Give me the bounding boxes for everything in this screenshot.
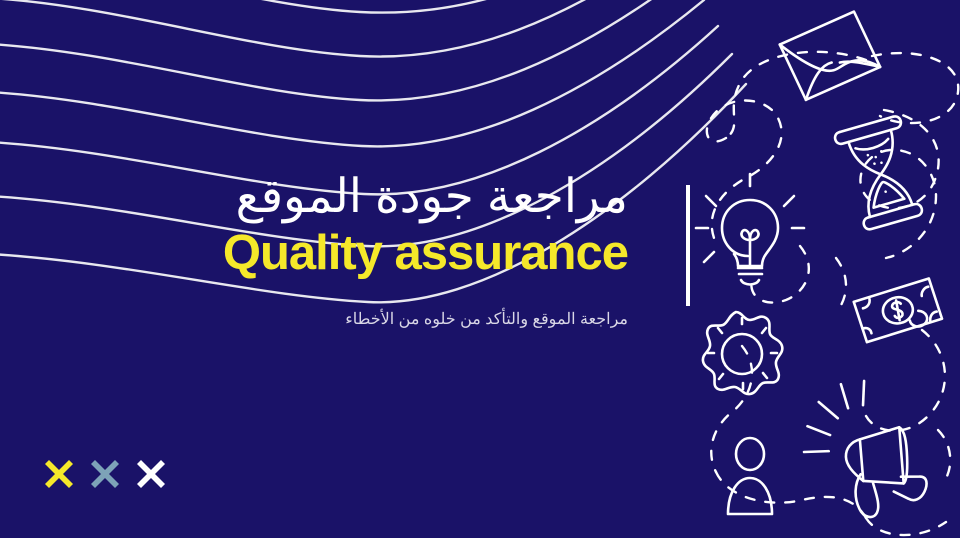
megaphone-icon [792,371,945,527]
x-mark-slate [90,459,120,489]
presentation-slide: مراجعة جودة الموقع Quality assurance مرا… [0,0,960,538]
money-icon [852,277,944,343]
page-title-arabic: مراجعة جودة الموقع [0,168,628,223]
page-title-english: Quality assurance [0,227,628,281]
x-mark-group [44,459,166,489]
lightbulb-icon [696,174,804,285]
title-text-block: مراجعة جودة الموقع Quality assurance مرا… [0,168,628,332]
vertical-divider [686,185,690,306]
x-mark-yellow [44,459,74,489]
page-subtitle-arabic: مراجعة الموقع والتأكد من خلوه من الأخطاء [0,309,628,331]
person-icon [728,438,772,514]
envelope-icon [776,9,883,103]
gear-icon [703,312,782,394]
dashed-connector-path [707,52,958,535]
hourglass-icon [834,115,927,232]
x-mark-white [136,459,166,489]
